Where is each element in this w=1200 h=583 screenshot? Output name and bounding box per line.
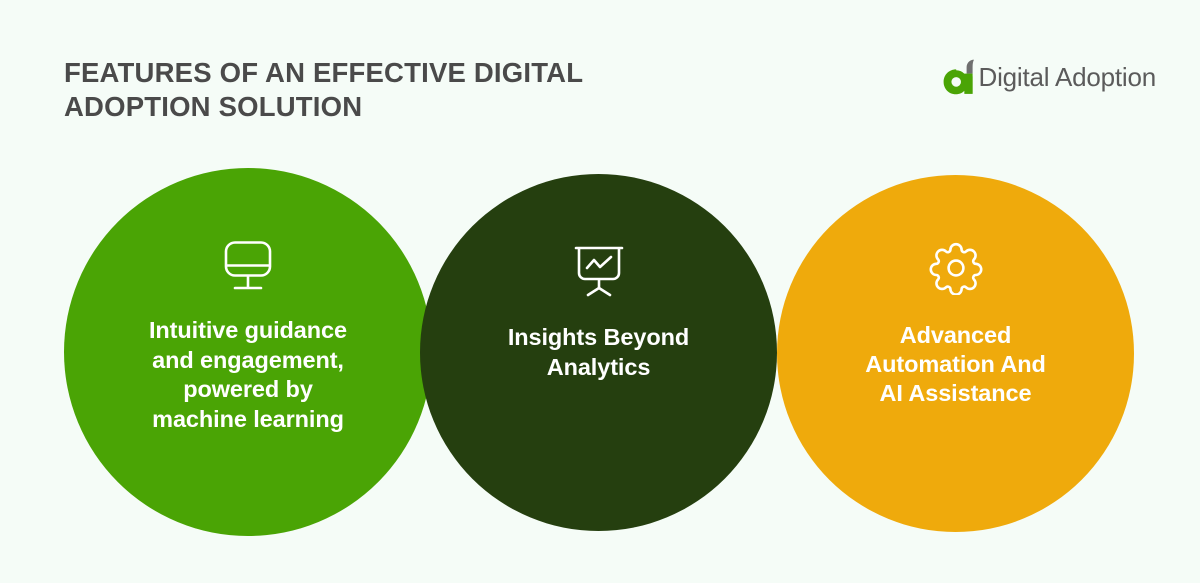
feature-label-intuitive-guidance: Intuitive guidance and engagement, power… (64, 316, 432, 434)
feature-label-line: Advanced (803, 321, 1108, 350)
brand-logo: Digital Adoption (942, 57, 1156, 97)
feature-label-line: Insights Beyond (446, 322, 751, 352)
feature-label-line: Analytics (446, 352, 751, 382)
feature-circle-intuitive-guidance[interactable]: Intuitive guidance and engagement, power… (64, 168, 432, 536)
feature-label-advanced-automation: Advanced Automation And AI Assistance (777, 321, 1134, 408)
feature-label-line: Automation And (803, 350, 1108, 379)
feature-label-line: powered by (90, 375, 406, 405)
feature-label-line: Intuitive guidance (90, 316, 406, 346)
digital-adoption-a-leaf-mark-icon (942, 59, 976, 95)
page-title: FEATURES OF AN EFFECTIVE DIGITAL ADOPTIO… (64, 56, 684, 124)
feature-circle-insights-beyond-analytics[interactable]: Insights Beyond Analytics (420, 174, 777, 531)
feature-label-line: machine learning (90, 405, 406, 435)
presentation-chart-icon (571, 244, 627, 298)
infographic-canvas: FEATURES OF AN EFFECTIVE DIGITAL ADOPTIO… (0, 0, 1200, 583)
feature-label-insights-beyond-analytics: Insights Beyond Analytics (420, 322, 777, 382)
gear-icon (929, 241, 983, 295)
page-title-line-2: ADOPTION SOLUTION (64, 90, 684, 124)
page-title-line-1: FEATURES OF AN EFFECTIVE DIGITAL (64, 56, 684, 90)
feature-label-line: AI Assistance (803, 379, 1108, 408)
feature-circle-advanced-automation[interactable]: Advanced Automation And AI Assistance (777, 175, 1134, 532)
brand-name-text: Digital Adoption (979, 62, 1156, 92)
feature-label-line: and engagement, (90, 346, 406, 376)
monitor-icon (220, 240, 276, 292)
